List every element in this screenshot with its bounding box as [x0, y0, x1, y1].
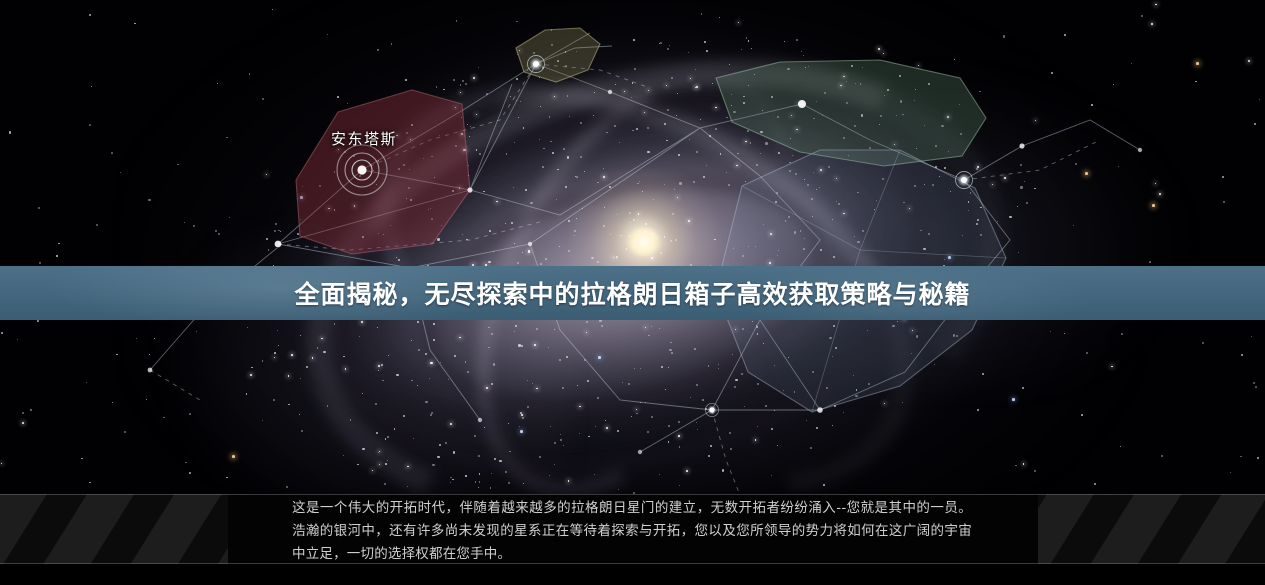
horizontal-scrollbar-track[interactable]	[0, 564, 1265, 585]
description-text: 这是一个伟大的开拓时代，伴随着越来越多的拉格朗日星门的建立，无数开拓者纷纷涌入-…	[292, 497, 972, 566]
title-banner: 全面揭秘，无尽探索中的拉格朗日箱子高效获取策略与秘籍	[0, 266, 1265, 320]
panel-divider-top	[0, 494, 1265, 495]
page-root: 安东塔斯 全面揭秘，无尽探索中的拉格朗日箱子高效获取策略与秘籍 这是一个伟大的开…	[0, 0, 1265, 585]
selected-system-marker[interactable]	[337, 145, 387, 195]
territory-olive[interactable]	[516, 28, 600, 82]
page-title: 全面揭秘，无尽探索中的拉格朗日箱子高效获取策略与秘籍	[294, 275, 970, 311]
territory-red[interactable]	[296, 90, 470, 254]
system-label-antonitas[interactable]: 安东塔斯	[331, 128, 397, 149]
